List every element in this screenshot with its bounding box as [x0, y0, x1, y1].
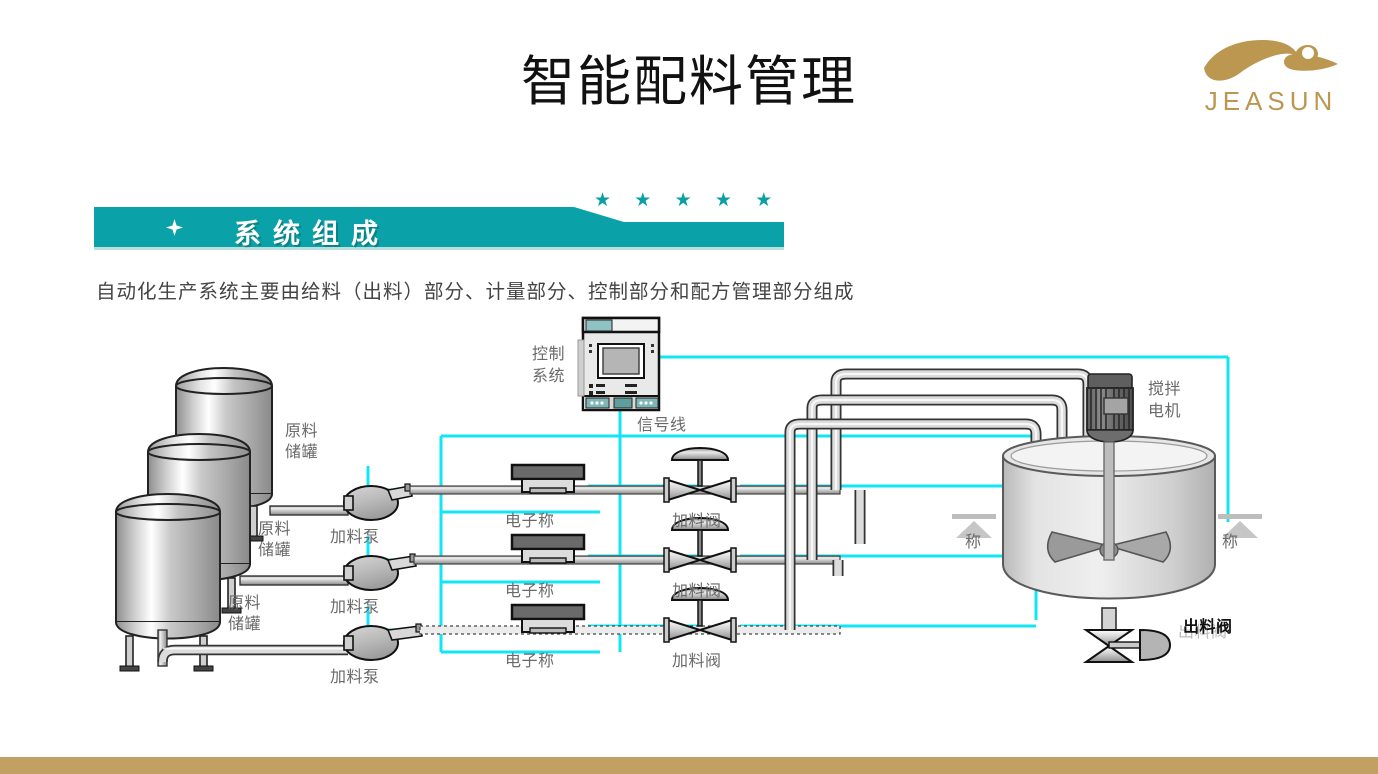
banner-label: 系统组成	[234, 212, 390, 251]
jeasun-logo: JEASUN	[1196, 28, 1346, 120]
label-electronic-scale-1: 电子称	[505, 511, 555, 530]
riser-down-legs	[838, 490, 860, 576]
control-system-unit	[578, 318, 659, 410]
electronic-scale-3	[512, 605, 584, 633]
label-electronic-scale-3: 电子称	[505, 651, 555, 670]
feed-pump-1	[344, 484, 412, 520]
slide-root: 智能配料管理 JEASUN ★ ★ ★ ★ ★ 系统组成 自动化生产系统主要由给…	[0, 0, 1378, 774]
banner-main	[94, 207, 784, 247]
label-feed-pump-3: 加料泵	[330, 667, 380, 686]
label-storage-tank-3: 原料 储罐	[228, 592, 261, 634]
label-weigh-right: 称	[1222, 532, 1239, 551]
process-pipes	[410, 486, 840, 634]
label-control-system: 控制 系统	[532, 343, 565, 387]
label-signal-line: 信号线	[637, 415, 687, 434]
logo-mark-icon	[1196, 28, 1346, 88]
label-weigh-left: 称	[965, 532, 982, 551]
label-mixer-motor: 搅拌 电机	[1148, 378, 1181, 422]
label-discharge-valve: 出料阀	[1183, 617, 1233, 636]
storage-tank-3	[116, 494, 220, 671]
logo-text: JEASUN	[1196, 86, 1346, 117]
feed-pump-3	[344, 624, 422, 660]
label-storage-tank-1: 原料 储罐	[285, 420, 318, 462]
label-feed-valve-2: 加料阀	[672, 581, 722, 600]
label-electronic-scale-2: 电子称	[505, 581, 555, 600]
label-feed-valve-1: 加料阀	[672, 511, 722, 530]
feed-pump-2	[344, 554, 416, 590]
page-title: 智能配料管理	[0, 52, 1378, 111]
electronic-scale-2	[512, 535, 584, 563]
bottom-accent-bar	[0, 757, 1378, 774]
section-banner: ★ ★ ★ ★ ★ 系统组成	[94, 193, 794, 253]
discharge-valve	[1086, 608, 1170, 662]
label-storage-tank-2: 原料 储罐	[258, 518, 291, 560]
label-feed-pump-2: 加料泵	[330, 597, 380, 616]
electronic-scale-1	[512, 465, 584, 493]
banner-stars: ★ ★ ★ ★ ★	[594, 191, 794, 213]
label-feed-valve-3: 加料阀	[672, 651, 722, 670]
label-feed-pump-1: 加料泵	[330, 527, 380, 546]
